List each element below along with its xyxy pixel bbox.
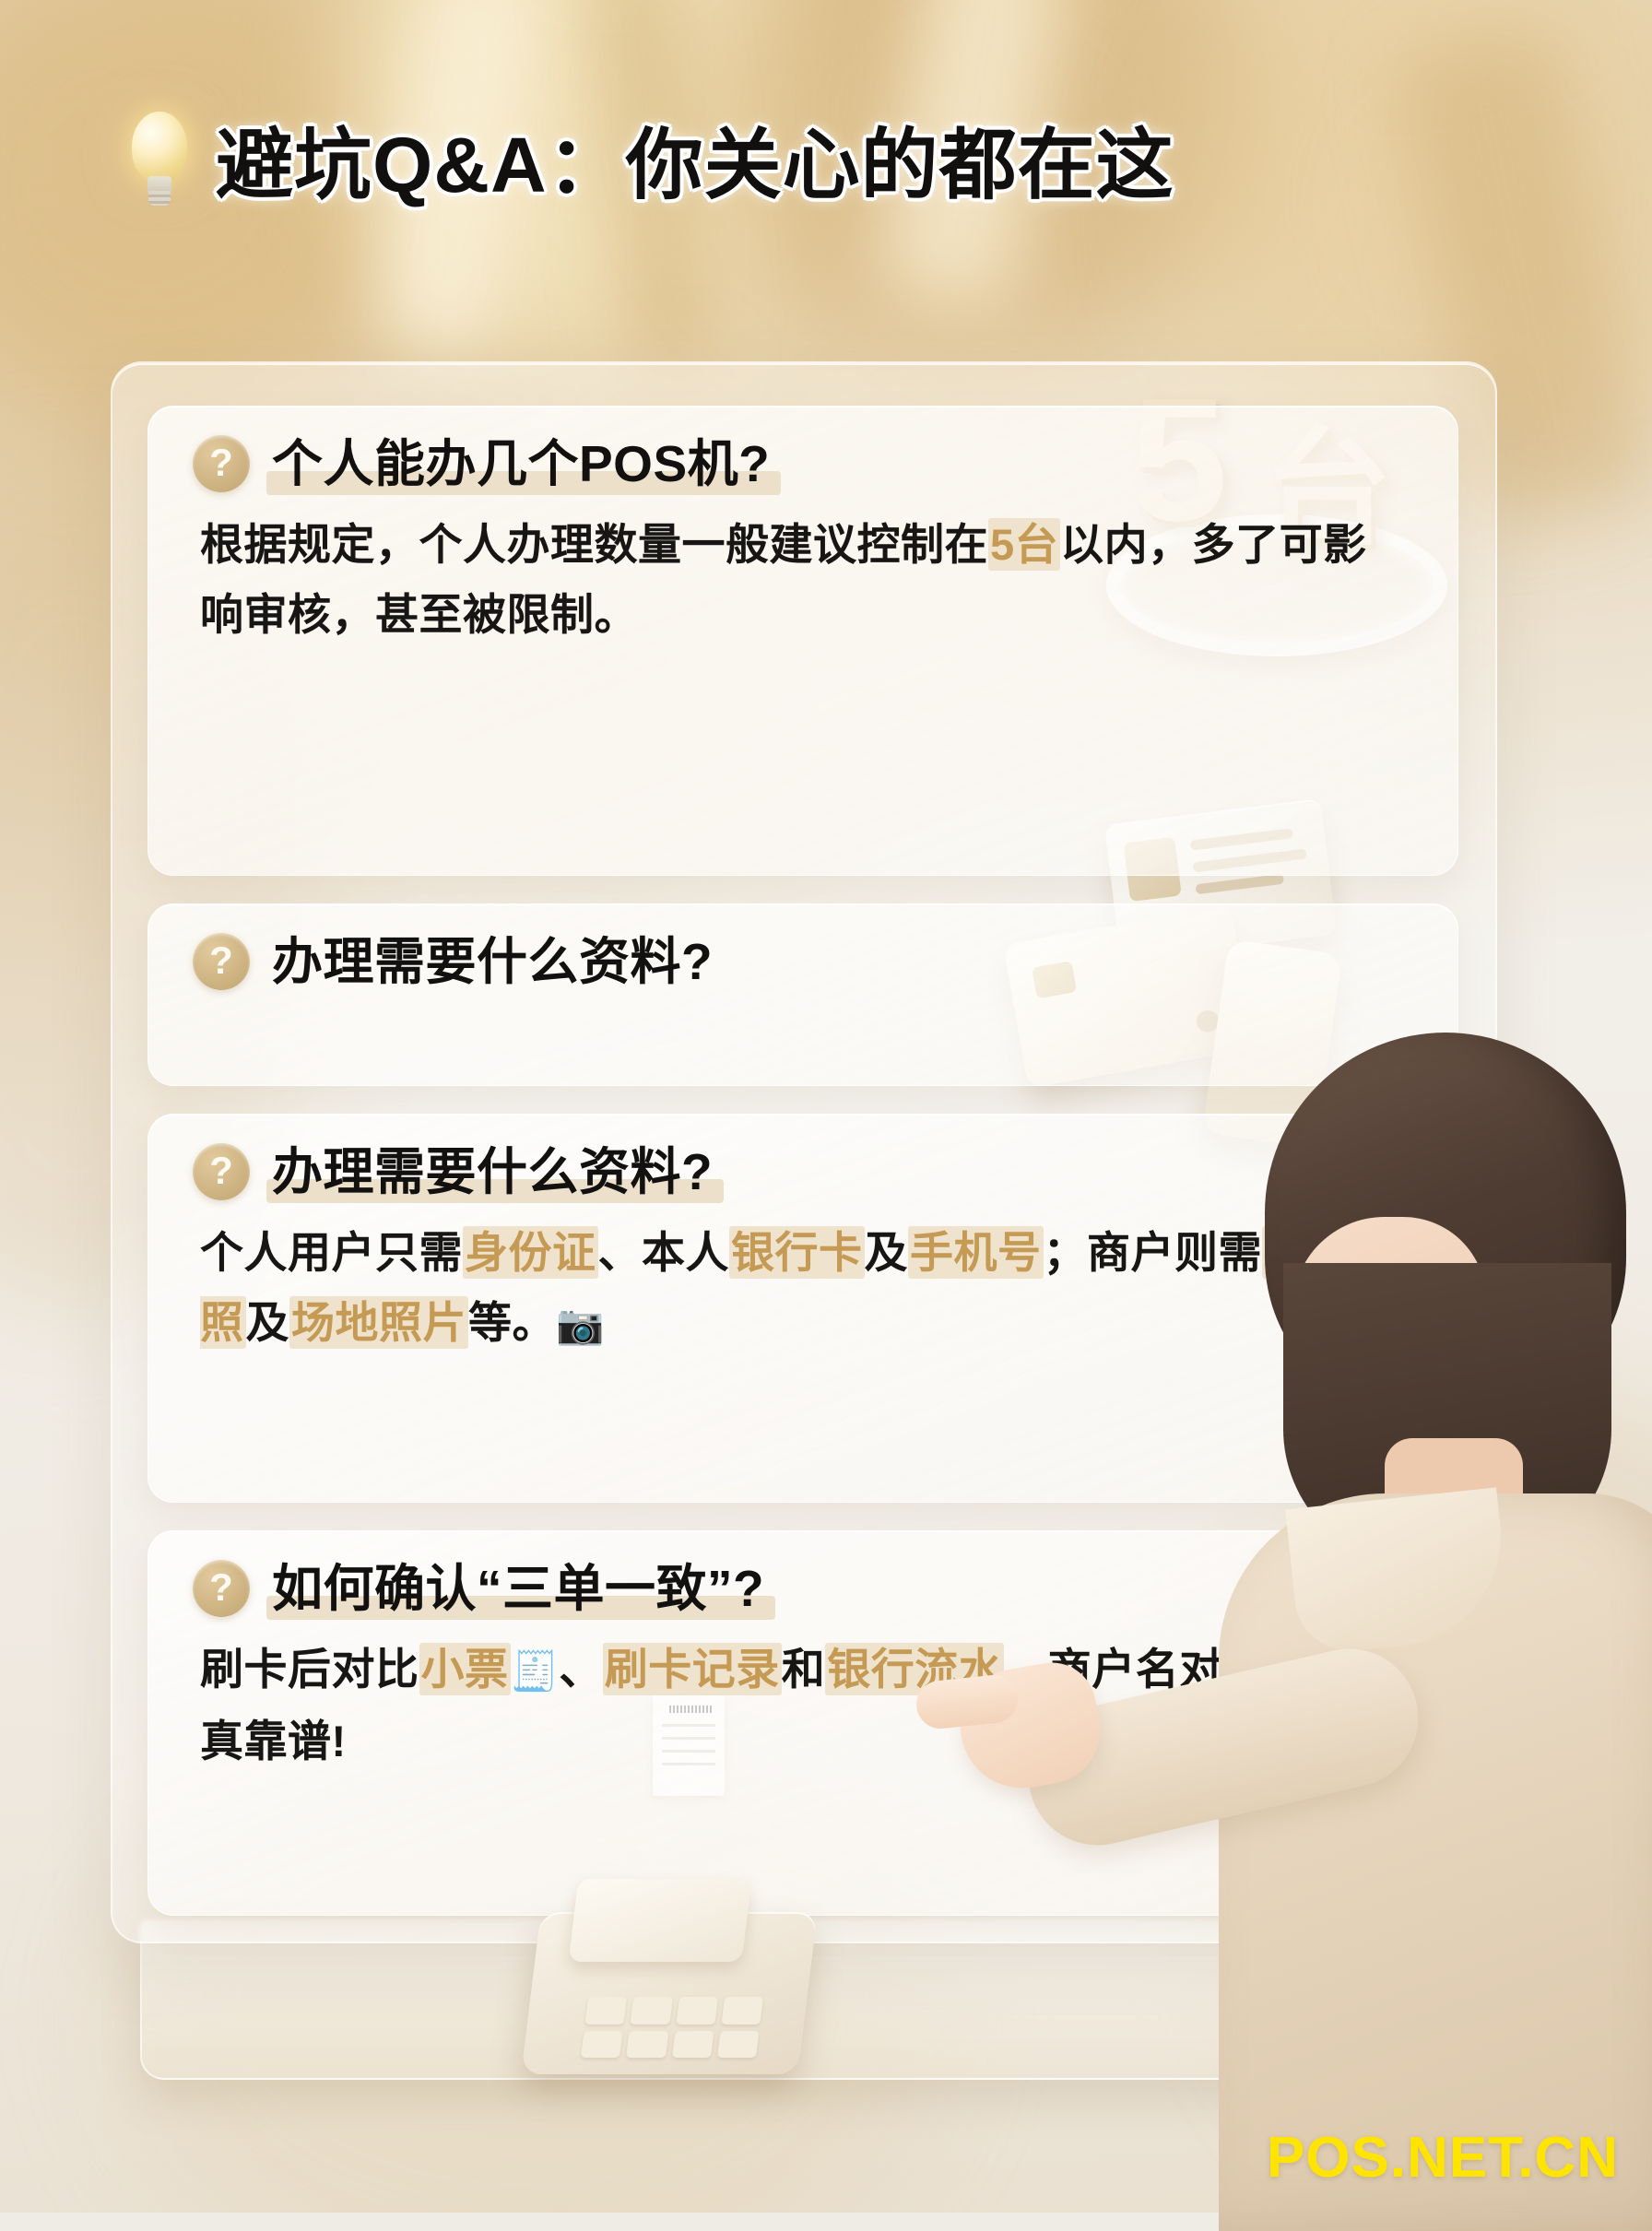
answer-keyword: 银行卡 — [729, 1226, 865, 1279]
question-label: 如何确认“三单一致”? — [272, 1560, 764, 1617]
question-mark-icon: ? — [193, 435, 250, 492]
question-label: 办理需要什么资料? — [272, 1143, 713, 1200]
watermark: POS.NET.CN — [1267, 2125, 1619, 2190]
page-title: 避坑Q&A：你关心的都在这 — [216, 103, 1174, 215]
answer-text: 、本人 — [598, 1228, 730, 1277]
answer-text: 般建议控制在 — [726, 520, 988, 569]
answer-text: 🧾 — [511, 1649, 560, 1693]
answer-text: 根据规定，个人办理数量一 — [200, 520, 726, 569]
lightbulb-icon — [129, 112, 190, 207]
answer-body: 根据规定，个人办理数量一般建议控制在5台以内，多了可影响审核，甚至被限制。 — [148, 493, 1457, 650]
question-title: 办理需要什么资料? — [272, 932, 713, 991]
question-label: 办理需要什么资料? — [272, 933, 713, 990]
answer-keyword: 5台 — [988, 518, 1060, 571]
answer-keyword: 小票 — [419, 1643, 511, 1695]
woman-pointing-3d — [988, 1033, 1652, 2222]
answer-keyword: 场地照片 — [289, 1296, 468, 1349]
answer-text: 等。 — [468, 1298, 556, 1347]
question-title: 个人能办几个POS机? — [272, 434, 770, 493]
pos-terminal-3d — [513, 1862, 844, 2093]
answer-keyword: 身份证 — [463, 1226, 598, 1279]
answer-text: 刷卡后对比 — [200, 1645, 419, 1694]
answer-keyword: 刷卡记录 — [603, 1643, 782, 1695]
answer-text: 甚至被限制。 — [375, 590, 638, 639]
page-header: 避坑Q&A：你关心的都在这 — [129, 103, 1174, 215]
answer-text: 及 — [246, 1298, 290, 1347]
answer-text: 📷 — [556, 1303, 605, 1346]
question-title: 如何确认“三单一致”? — [272, 1559, 764, 1618]
answer-text: 及 — [865, 1228, 909, 1277]
question-mark-icon: ? — [193, 1560, 250, 1617]
question-mark-icon: ? — [193, 1143, 250, 1200]
question-label: 个人能办几个POS机? — [272, 435, 770, 492]
answer-text: 、 — [559, 1645, 603, 1694]
question-row: ? 办理需要什么资料? — [148, 904, 1457, 991]
qa-card[interactable]: ? 个人能办几个POS机? 根据规定，个人办理数量一般建议控制在5台以内，多了可… — [147, 406, 1458, 876]
question-mark-icon: ? — [193, 933, 250, 990]
answer-text: 个人用户只需 — [200, 1228, 463, 1277]
answer-text: 和 — [782, 1645, 826, 1694]
question-title: 办理需要什么资料? — [272, 1142, 713, 1201]
question-row: ? 个人能办几个POS机? — [148, 407, 1457, 493]
